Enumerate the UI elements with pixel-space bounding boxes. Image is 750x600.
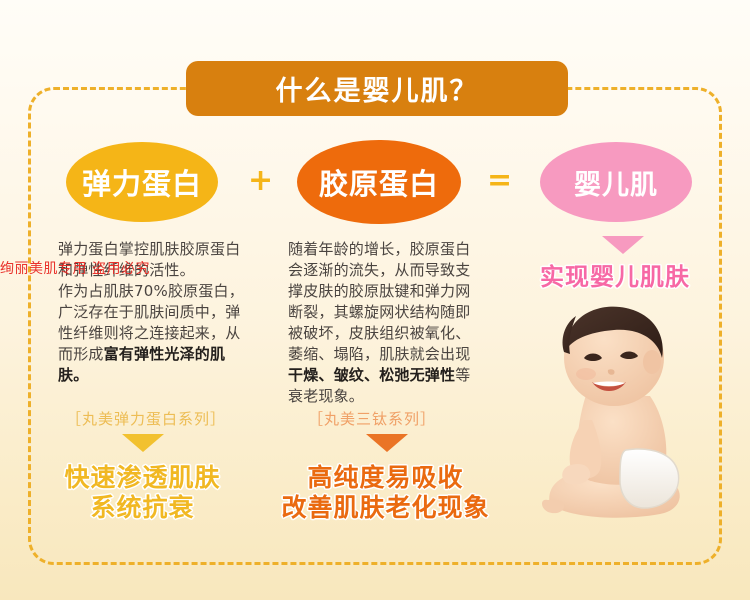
pill-collagen-label: 胶原蛋白	[319, 161, 439, 203]
body-text-middle: 随着年龄的增长，胶原蛋白会逐渐的流失，从而导致支撑皮肤的胶原肽键和弹力网断裂，其…	[288, 239, 484, 407]
conclusion-middle: 高纯度易吸收 改善肌肤老化现象	[278, 463, 493, 523]
title-banner: 什么是婴儿肌？	[186, 61, 568, 116]
pill-elastin: 弹力蛋白	[66, 142, 218, 222]
operator-plus-icon: +	[248, 166, 273, 196]
conclusion-middle-line-1: 高纯度易吸收	[307, 463, 463, 492]
baby-photo	[540, 300, 720, 550]
conclusion-right: 实现婴儿肌肤	[517, 262, 713, 292]
conclusion-left: 快速渗透肌肤 系统抗衰	[35, 463, 250, 523]
pill-collagen: 胶原蛋白	[297, 140, 461, 224]
operator-equals-icon: =	[487, 166, 512, 196]
conclusion-left-line-1: 快速渗透肌肤	[64, 463, 220, 492]
watermark-text: 绚丽美肌专用 盗用必究	[0, 258, 150, 278]
promo-poster: 什么是婴儿肌？ 弹力蛋白 + 胶原蛋白 = 婴儿肌 弹力蛋白掌控肌肤胶原蛋白和弹…	[0, 0, 750, 600]
arrow-down-icon-middle	[366, 434, 408, 452]
pill-baby-skin: 婴儿肌	[540, 142, 692, 222]
body-mid-paragraph: 随着年龄的增长，胶原蛋白会逐渐的流失，从而导致支撑皮肤的胶原肽键和弹力网断裂，其…	[288, 240, 470, 363]
page-title: 什么是婴儿肌？	[276, 69, 479, 108]
pill-elastin-label: 弹力蛋白	[82, 161, 202, 203]
series-label-left: ［丸美弹力蛋白系列］	[66, 408, 226, 429]
body-mid-highlight: 干燥、皱纹、松弛无弹性	[288, 366, 455, 384]
series-label-middle: ［丸美三钛系列］	[308, 408, 436, 429]
conclusion-middle-line-2: 改善肌肤老化现象	[281, 493, 489, 522]
conclusion-left-line-2: 系统抗衰	[90, 493, 194, 522]
pill-baby-skin-label: 婴儿肌	[574, 163, 658, 202]
arrow-down-icon-left	[122, 434, 164, 452]
arrow-down-icon-right	[602, 236, 644, 254]
